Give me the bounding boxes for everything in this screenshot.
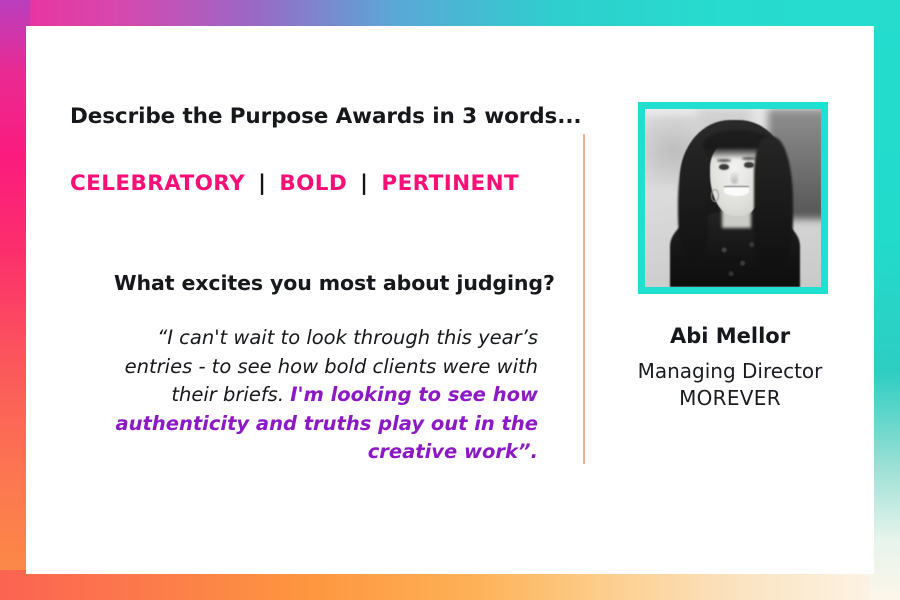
right-column: Abi Mellor Managing Director MOREVER: [586, 26, 874, 574]
hair-strand-right: [754, 137, 793, 265]
eyebrow-left: [717, 159, 731, 162]
nose-shape: [731, 171, 738, 183]
eye-left: [719, 164, 730, 169]
portrait-photo-frame: [638, 102, 828, 294]
column-divider: [583, 134, 585, 464]
gradient-border-right: [870, 0, 900, 600]
word-separator-2: |: [347, 171, 381, 196]
word-celebratory: CELEBRATORY: [70, 171, 245, 196]
quote-end-punctuation: .: [531, 440, 538, 463]
gradient-border-bottom: [0, 570, 900, 600]
gradient-border-top: [0, 0, 900, 28]
person-name: Abi Mellor: [586, 324, 874, 348]
white-card: Describe the Purpose Awards in 3 words..…: [26, 26, 874, 574]
page-title: Describe the Purpose Awards in 3 words..…: [70, 104, 581, 129]
quote-block: “I can't wait to look through this year’…: [110, 324, 538, 467]
person-organisation: MOREVER: [586, 386, 874, 410]
word-bold: BOLD: [279, 171, 347, 196]
three-words-row: CELEBRATORY|BOLD|PERTINENT: [70, 171, 519, 196]
earring-icon: [711, 189, 719, 202]
portrait-photo: [645, 109, 821, 287]
promo-card-frame: Describe the Purpose Awards in 3 words..…: [0, 0, 900, 600]
hair-strand-left: [678, 148, 708, 258]
eye-right: [744, 162, 755, 167]
question-heading: What excites you most about judging?: [114, 271, 555, 295]
word-separator-1: |: [245, 171, 279, 196]
word-pertinent: PERTINENT: [381, 171, 519, 196]
eyebrow-right: [742, 157, 756, 160]
left-column: Describe the Purpose Awards in 3 words..…: [26, 26, 556, 574]
card-content: Describe the Purpose Awards in 3 words..…: [26, 26, 874, 574]
person-role: Managing Director: [586, 357, 874, 386]
